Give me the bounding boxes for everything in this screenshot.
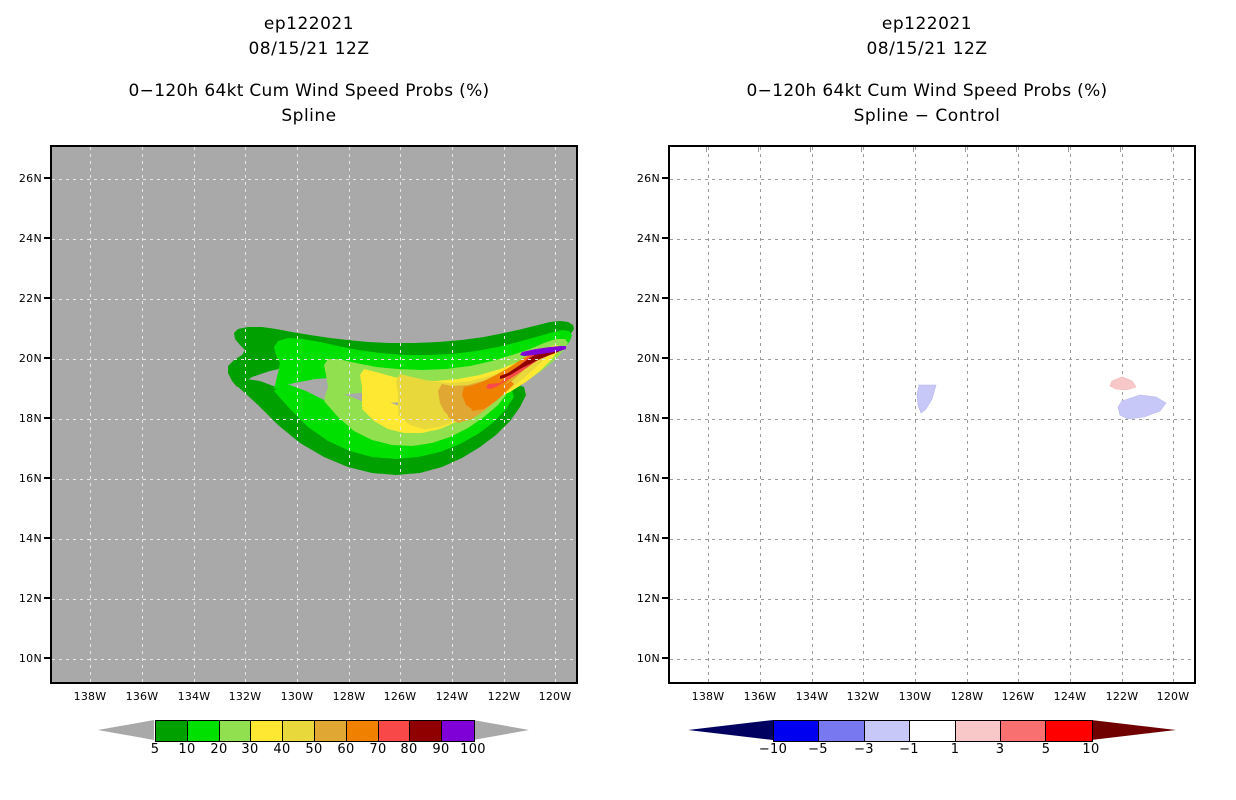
colorbar-cell-neg10-neg5 (774, 721, 819, 741)
anomaly-negative-east (1118, 395, 1166, 419)
ytick-label-22N: 22N (0, 292, 42, 305)
gridline-x-124W (452, 147, 453, 682)
colorbar-cell-90-100 (442, 721, 474, 741)
colorbar-cell-3-5 (1001, 721, 1046, 741)
xtick-label-138W-right: 138W (683, 690, 733, 703)
xtick-label-122W-right: 122W (1097, 690, 1147, 703)
gridline-y-14N (52, 539, 576, 540)
colorbar-cell-neg1-1 (910, 721, 955, 741)
forecast-date-left: 08/15/21 12Z (0, 37, 618, 62)
colorbar-under-arrow-difference (688, 720, 773, 740)
gridline-x-138W (90, 147, 91, 682)
xtick-mark-122W-right (1120, 147, 1121, 152)
chart-subtitle-right: Spline − Control (618, 104, 1236, 128)
colorbar-cells-difference (773, 720, 1093, 742)
ytick-mark-12N-right (662, 597, 668, 599)
gridline-x-130W (297, 147, 298, 682)
xtick-label-136W-right: 136W (735, 690, 785, 703)
ytick-mark-14N (44, 537, 50, 539)
chart-title-left: 0−120h 64kt Cum Wind Speed Probs (%) (0, 79, 618, 104)
gridline-x-120W (555, 147, 556, 682)
ytick-label-16N-right: 16N (618, 472, 660, 485)
colorbar-cell-30-40 (251, 721, 283, 741)
ytick-label-22N-right: 22N (618, 292, 660, 305)
gridline-x-132W (245, 147, 246, 682)
xtick-label-122W: 122W (479, 690, 529, 703)
gridline-x-128W (349, 147, 350, 682)
xtick-mark-126W-right (1016, 147, 1017, 152)
ytick-label-24N: 24N (0, 232, 42, 245)
ytick-mark-26N-right (662, 177, 668, 179)
xtick-label-126W: 126W (375, 690, 425, 703)
colorbar-tick-neg10: −10 (751, 742, 795, 757)
xtick-mark-138W-right (706, 147, 707, 152)
ytick-mark-10N-right (662, 657, 668, 659)
ytick-label-18N: 18N (0, 412, 42, 425)
xtick-label-128W-right: 128W (942, 690, 992, 703)
colorbar-cell-20-30 (220, 721, 252, 741)
panel-left-titles: ep122021 08/15/21 12Z 0−120h 64kt Cum Wi… (0, 0, 618, 128)
gridline-x-134W (194, 147, 195, 682)
colorbar-tick-10: 10 (1069, 742, 1113, 757)
colorbar-tick-neg5: −5 (796, 742, 840, 757)
xtick-mark-134W-right (810, 147, 811, 152)
ytick-mark-12N (44, 597, 50, 599)
colorbar-cell-70-80 (379, 721, 411, 741)
xtick-mark-120W-right (1171, 147, 1172, 152)
ytick-mark-16N (44, 477, 50, 479)
ytick-label-10N-right: 10N (618, 652, 660, 665)
gridline-y-16N (52, 479, 576, 480)
ytick-label-24N-right: 24N (618, 232, 660, 245)
colorbar-cell-neg3-neg1 (865, 721, 910, 741)
ytick-mark-20N (44, 357, 50, 359)
colorbar-cell-60-70 (347, 721, 379, 741)
xtick-label-120W: 120W (530, 690, 580, 703)
xtick-label-138W: 138W (65, 690, 115, 703)
ytick-label-14N: 14N (0, 532, 42, 545)
ytick-mark-22N-right (662, 297, 668, 299)
ytick-label-26N: 26N (0, 172, 42, 185)
colorbar-tick-100: 100 (451, 742, 495, 757)
ytick-mark-18N (44, 417, 50, 419)
xtick-mark-132W-right (861, 147, 862, 152)
ytick-label-14N-right: 14N (618, 532, 660, 545)
ytick-mark-16N-right (662, 477, 668, 479)
chart-title-right: 0−120h 64kt Cum Wind Speed Probs (%) (618, 79, 1236, 104)
colorbar-over-arrow-difference (1091, 720, 1176, 740)
ytick-label-12N: 12N (0, 592, 42, 605)
ytick-label-10N: 10N (0, 652, 42, 665)
ytick-mark-22N (44, 297, 50, 299)
ytick-mark-10N (44, 657, 50, 659)
ytick-label-26N-right: 26N (618, 172, 660, 185)
gridline-y-22N (52, 299, 576, 300)
chart-subtitle-left: Spline (0, 104, 618, 128)
xtick-label-124W-right: 124W (1045, 690, 1095, 703)
plot-inner-spline-control (670, 147, 1194, 682)
colorbar-cell-10-20 (188, 721, 220, 741)
ytick-mark-14N-right (662, 537, 668, 539)
colorbar-difference[interactable]: −10 −5 −3 −1 1 3 5 10 (668, 714, 1196, 774)
xtick-label-132W-right: 132W (838, 690, 888, 703)
colorbar-tick-5: 5 (1024, 742, 1068, 757)
colorbar-cell-5-10 (156, 721, 188, 741)
xtick-label-120W-right: 120W (1148, 690, 1198, 703)
colorbar-cell-50-60 (315, 721, 347, 741)
xtick-label-126W-right: 126W (993, 690, 1043, 703)
xtick-label-134W-right: 134W (787, 690, 837, 703)
colorbar-ticks-difference: −10 −5 −3 −1 1 3 5 10 (668, 742, 1196, 764)
xtick-label-134W: 134W (169, 690, 219, 703)
storm-id-left: ep122021 (0, 12, 618, 37)
ytick-label-12N-right: 12N (618, 592, 660, 605)
colorbar-cells-probability (155, 720, 475, 742)
colorbar-cell-5-10 (1046, 721, 1091, 741)
colorbar-probability[interactable]: 5 10 20 30 40 50 60 70 80 90 100 (50, 714, 578, 774)
xtick-label-128W: 128W (324, 690, 374, 703)
gridline-y-12N (52, 599, 576, 600)
gridline-x-122W (504, 147, 505, 682)
plot-area-spline[interactable] (50, 145, 578, 684)
ytick-label-20N: 20N (0, 352, 42, 365)
anomaly-negative-west (917, 385, 936, 413)
colorbar-under-arrow-probability (98, 720, 154, 740)
panel-right-titles: ep122021 08/15/21 12Z 0−120h 64kt Cum Wi… (618, 0, 1236, 128)
gridline-y-20N (52, 359, 576, 360)
probability-contour-field (52, 147, 576, 682)
colorbar-tick-3: 3 (978, 742, 1022, 757)
ytick-mark-26N (44, 177, 50, 179)
xtick-label-130W: 130W (272, 690, 322, 703)
plot-area-spline-control[interactable] (668, 145, 1196, 684)
ytick-mark-24N (44, 237, 50, 239)
xtick-mark-124W-right (1068, 147, 1069, 152)
colorbar-tick-neg3: −3 (842, 742, 886, 757)
ytick-mark-24N-right (662, 237, 668, 239)
ytick-label-18N-right: 18N (618, 412, 660, 425)
gridline-y-18N (52, 419, 576, 420)
panel-spline: ep122021 08/15/21 12Z 0−120h 64kt Cum Wi… (0, 0, 618, 800)
colorbar-tick-1: 1 (933, 742, 977, 757)
difference-anomaly-field (670, 147, 1194, 682)
plot-inner-spline (52, 147, 576, 682)
xtick-label-132W: 132W (220, 690, 270, 703)
colorbar-cell-neg5-neg3 (819, 721, 864, 741)
colorbar-tick-neg1: −1 (887, 742, 931, 757)
storm-id-right: ep122021 (618, 12, 1236, 37)
ytick-mark-20N-right (662, 357, 668, 359)
ytick-label-20N-right: 20N (618, 352, 660, 365)
anomaly-positive-north (1110, 377, 1136, 390)
gridline-x-136W (142, 147, 143, 682)
xtick-mark-128W-right (965, 147, 966, 152)
gridline-y-24N (52, 239, 576, 240)
xtick-mark-130W-right (913, 147, 914, 152)
xtick-label-136W: 136W (117, 690, 167, 703)
colorbar-cell-1-3 (956, 721, 1001, 741)
colorbar-cell-40-50 (283, 721, 315, 741)
xtick-mark-136W-right (758, 147, 759, 152)
colorbar-ticks-probability: 5 10 20 30 40 50 60 70 80 90 100 (50, 742, 578, 764)
gridline-y-26N (52, 179, 576, 180)
colorbar-cell-80-90 (410, 721, 442, 741)
ytick-mark-18N-right (662, 417, 668, 419)
forecast-date-right: 08/15/21 12Z (618, 37, 1236, 62)
ytick-label-16N: 16N (0, 472, 42, 485)
colorbar-over-arrow-probability (473, 720, 529, 740)
xtick-label-130W-right: 130W (890, 690, 940, 703)
xtick-label-124W: 124W (427, 690, 477, 703)
panel-spline-control: ep122021 08/15/21 12Z 0−120h 64kt Cum Wi… (618, 0, 1236, 800)
gridline-y-10N (52, 659, 576, 660)
gridline-x-126W (400, 147, 401, 682)
